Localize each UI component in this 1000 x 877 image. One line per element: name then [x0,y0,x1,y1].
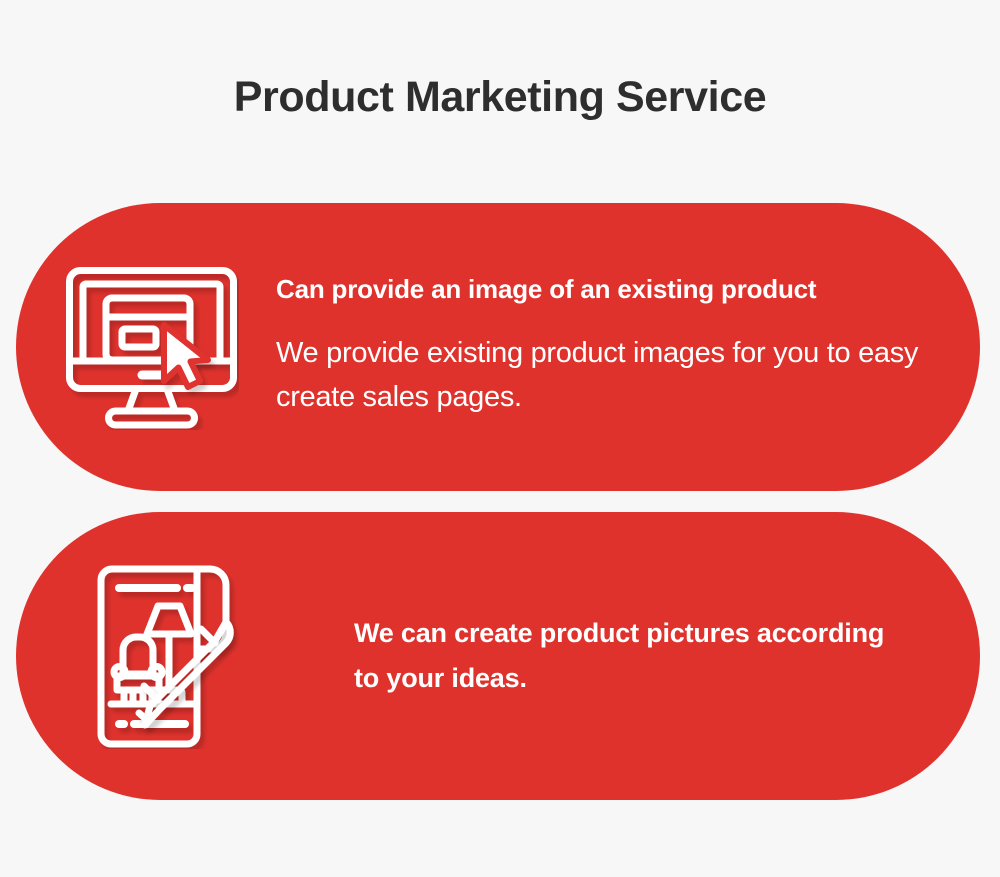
monitor-cursor-icon [26,265,276,430]
card-heading: Can provide an image of an existing prod… [276,275,920,305]
card-description: We can create product pictures according… [354,611,914,702]
page-title: Product Marketing Service [0,76,1000,119]
card-description: We provide existing product images for y… [276,331,920,419]
sketch-pencil-icon [46,564,296,749]
service-card-custom-pictures[interactable]: We can create product pictures according… [16,512,980,800]
card-body: Can provide an image of an existing prod… [276,275,980,419]
service-card-existing-product[interactable]: Can provide an image of an existing prod… [16,203,980,491]
card-body: We can create product pictures according… [296,611,980,702]
